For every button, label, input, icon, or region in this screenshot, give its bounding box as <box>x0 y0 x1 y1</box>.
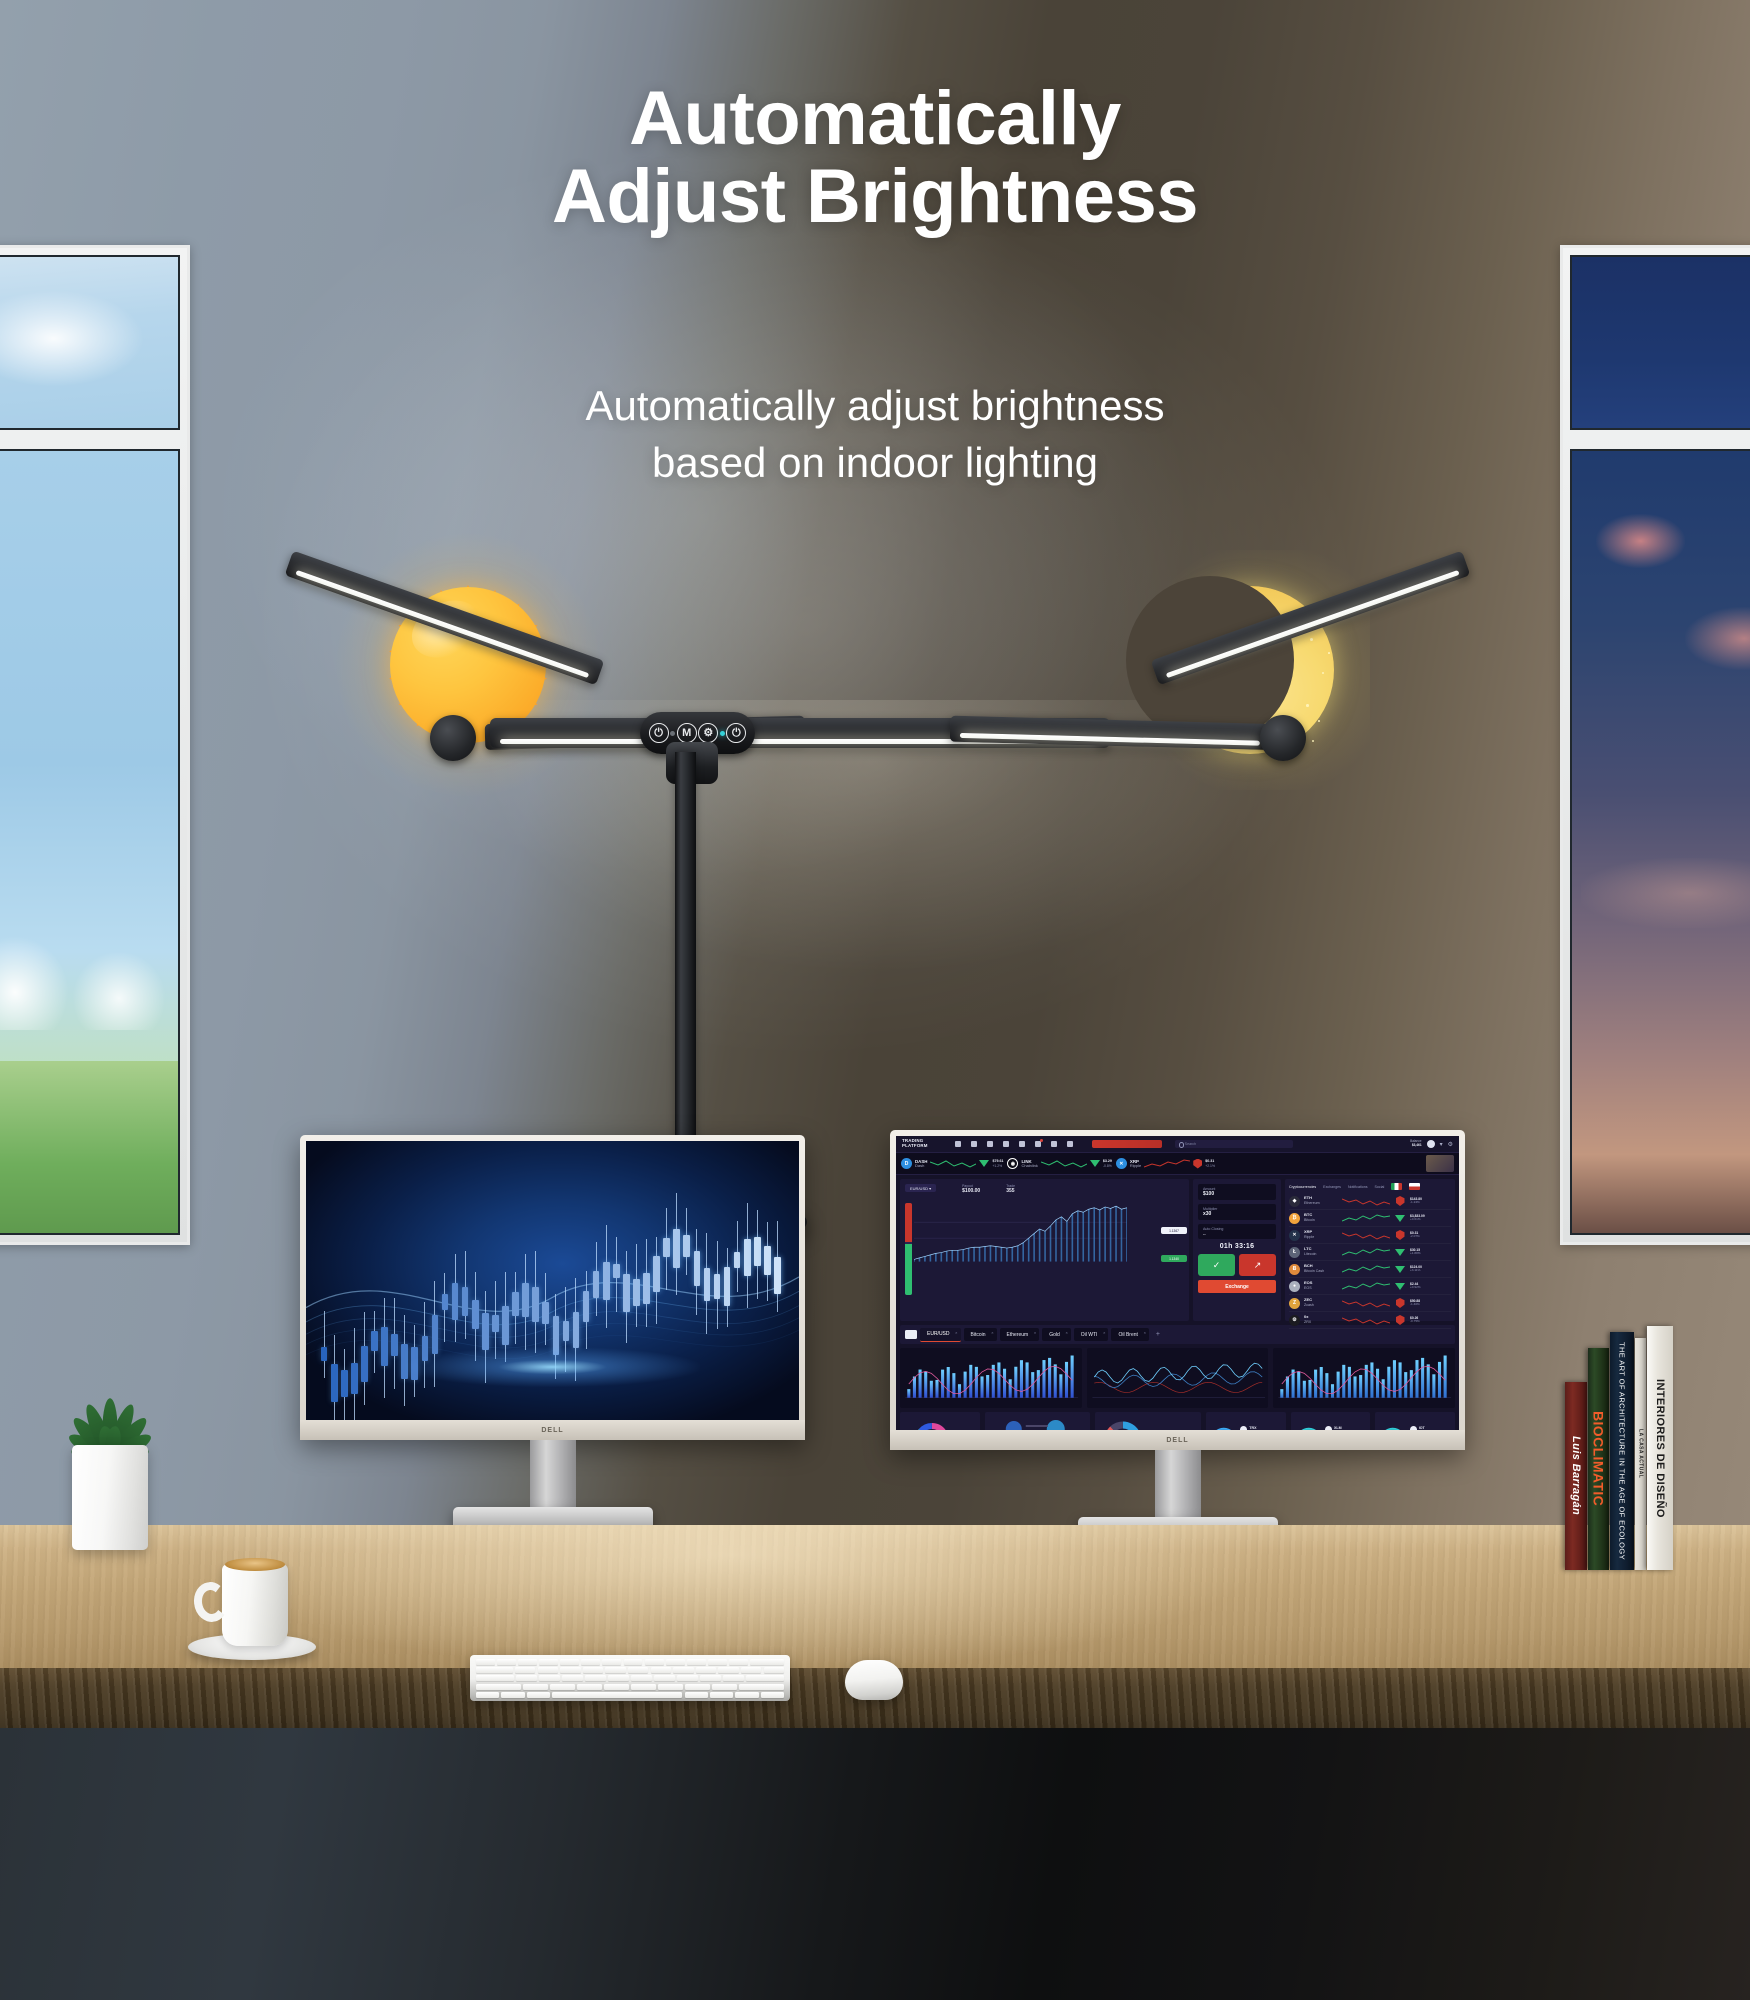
key[interactable] <box>562 1675 583 1681</box>
coin-icon: Z <box>1289 1298 1300 1309</box>
amount-field[interactable]: Amount $100 <box>1198 1184 1276 1200</box>
key[interactable] <box>677 1675 698 1681</box>
tab-label: Oil WTI <box>1081 1332 1098 1338</box>
key[interactable] <box>700 1675 721 1681</box>
candle-body <box>704 1268 711 1301</box>
chart-icon[interactable] <box>987 1141 993 1147</box>
key[interactable] <box>515 1667 535 1673</box>
tab-label: Oil Brent <box>1118 1332 1137 1338</box>
key[interactable] <box>539 1675 560 1681</box>
window-pane-bottom <box>1570 449 1750 1235</box>
ticker-item[interactable]: DDASHDash$79.61+1.2% <box>901 1158 1003 1169</box>
countdown-timer: 01h 33:16 <box>1198 1243 1276 1250</box>
panel-bar-line-combo[interactable] <box>900 1348 1082 1408</box>
candlestick <box>381 1141 388 1420</box>
sparkline <box>1342 1247 1390 1258</box>
lock-icon[interactable] <box>1067 1141 1073 1147</box>
key[interactable] <box>708 1659 727 1665</box>
tab-label: Gold <box>1049 1332 1060 1338</box>
key[interactable] <box>497 1659 516 1665</box>
candle-body <box>391 1334 398 1356</box>
add-tab-button[interactable]: + <box>1152 1331 1164 1338</box>
candle-body <box>673 1229 680 1268</box>
candle-body <box>452 1283 459 1320</box>
candlestick <box>734 1141 741 1420</box>
keyboard-row[interactable] <box>476 1659 784 1665</box>
candle-body <box>714 1274 721 1299</box>
candle-body <box>472 1300 479 1329</box>
key[interactable] <box>685 1692 708 1698</box>
key[interactable] <box>746 1675 784 1681</box>
tab-gold[interactable]: Gold× <box>1042 1328 1071 1341</box>
sparkline <box>1342 1196 1390 1207</box>
chart-trade-stat: Trade 355 <box>1006 1184 1015 1195</box>
chevron-down-icon[interactable]: ▾ <box>1440 1141 1443 1148</box>
key[interactable] <box>608 1675 629 1681</box>
key[interactable] <box>666 1659 685 1665</box>
led-indicator-1 <box>670 731 675 736</box>
crypto-values: $143.80-1.24% <box>1410 1197 1422 1205</box>
crypto-symbol: ZECZcash <box>1304 1298 1338 1307</box>
candle-body <box>663 1238 670 1257</box>
key[interactable] <box>602 1659 621 1665</box>
crypto-row[interactable]: ◆ETHEthereum$143.80-1.24% <box>1289 1193 1451 1210</box>
put-button[interactable]: ↗ <box>1239 1254 1276 1276</box>
monitor-stand-neck <box>1155 1450 1201 1520</box>
coin-icon: ₿ <box>1289 1213 1300 1224</box>
coin-icon: ✕ <box>1289 1230 1300 1241</box>
candlestick <box>391 1141 398 1420</box>
trade-buttons[interactable]: ✓ ↗ <box>1198 1254 1276 1276</box>
trend-down-icon <box>1395 1249 1405 1256</box>
coffee-liquid <box>225 1558 285 1571</box>
crypto-row[interactable]: ✕XRPRipple$0.31-2.07% <box>1289 1227 1451 1244</box>
key[interactable] <box>718 1667 738 1673</box>
autoclose-field[interactable]: Auto Closing -- <box>1198 1224 1276 1239</box>
key[interactable] <box>645 1659 664 1665</box>
candlestick <box>754 1141 761 1420</box>
candle-body <box>381 1327 388 1366</box>
list-icon[interactable] <box>971 1141 977 1147</box>
key[interactable] <box>604 1684 629 1690</box>
sparkline <box>1342 1298 1390 1309</box>
exchange-button[interactable]: Exchange <box>1198 1280 1276 1293</box>
chart-pair-selector[interactable]: EUR/USD ▾ <box>905 1184 936 1192</box>
crypto-values: $50.88-1.40% <box>1410 1299 1420 1307</box>
key[interactable] <box>710 1692 733 1698</box>
flag-icon-poland[interactable] <box>1409 1183 1420 1190</box>
crypto-name: Bitcoin <box>1304 1218 1338 1222</box>
coin-icon: ● <box>1289 1281 1300 1292</box>
key[interactable] <box>750 1659 784 1665</box>
multiplier-field[interactable]: Multiplier x30 <box>1198 1204 1276 1220</box>
key[interactable] <box>761 1692 784 1698</box>
key[interactable] <box>723 1675 744 1681</box>
candlestick <box>704 1141 711 1420</box>
tab-oil-wti[interactable]: Oil WTI× <box>1074 1328 1109 1341</box>
trend-indicator <box>1394 1249 1406 1256</box>
key[interactable] <box>631 1684 656 1690</box>
crypto-name: Zcash <box>1304 1303 1338 1307</box>
key[interactable] <box>476 1692 499 1698</box>
promo-thumbnail[interactable] <box>1426 1155 1454 1172</box>
card-donut-legend[interactable]: 1,048 BitcoinEthereumRippleLitecoin <box>1095 1412 1201 1430</box>
monitor-left-screen[interactable] <box>306 1141 799 1420</box>
lamp-hinge-right[interactable] <box>1260 715 1306 761</box>
monitor-left[interactable]: DELL <box>300 1135 805 1440</box>
keyboard[interactable] <box>470 1655 790 1701</box>
crypto-symbol: BCHBitcoin Cash <box>1304 1264 1338 1273</box>
candle-body <box>593 1271 600 1298</box>
key[interactable] <box>539 1659 558 1665</box>
key[interactable] <box>583 1667 603 1673</box>
card-iota[interactable]: 1,051 IOT IOTA <box>1375 1412 1455 1430</box>
cloud <box>72 951 166 1029</box>
mode-button[interactable]: M <box>677 723 697 743</box>
moon-sparkle <box>1306 704 1309 707</box>
key[interactable] <box>585 1675 606 1681</box>
list-tab-cryptocurrencies[interactable]: Cryptocurrencies <box>1289 1185 1316 1189</box>
coffee-cup[interactable] <box>200 1555 304 1660</box>
trend-indicator <box>1394 1283 1406 1290</box>
crypto-row[interactable]: ŁLTCLitecoin$30.15+1.88% <box>1289 1244 1451 1261</box>
crypto-symbol: BTCBitcoin <box>1304 1213 1338 1222</box>
key[interactable] <box>516 1675 537 1681</box>
candlestick <box>321 1141 328 1420</box>
tab-eur-usd[interactable]: EUR/USD× <box>920 1328 961 1342</box>
tabs-host[interactable]: EUR/USD×Bitcoin×Ethereum×Gold×Oil WTI×Oi… <box>920 1328 1149 1342</box>
key[interactable] <box>735 1692 758 1698</box>
key[interactable] <box>476 1675 514 1681</box>
crypto-name: Bitcoin Cash <box>1304 1269 1338 1273</box>
menu-icon[interactable] <box>905 1330 917 1339</box>
candlestick <box>774 1141 781 1420</box>
key[interactable] <box>538 1667 558 1673</box>
candle-body <box>583 1291 590 1322</box>
key[interactable] <box>605 1667 625 1673</box>
list-tab-row[interactable]: CryptocurrenciesExchangesNotificationsSo… <box>1289 1183 1451 1190</box>
potted-succulent <box>60 1382 160 1550</box>
search-nav-icon[interactable] <box>1019 1141 1025 1147</box>
keyboard-row[interactable] <box>476 1667 784 1673</box>
candle-body <box>502 1306 509 1345</box>
keyboard-row[interactable] <box>476 1675 784 1681</box>
key[interactable] <box>654 1675 675 1681</box>
dashboard-header[interactable]: TRADING PLATFORM Search <box>896 1136 1459 1153</box>
trend-up-icon <box>1396 1315 1405 1325</box>
logo-line-2: PLATFORM <box>902 1143 928 1148</box>
candlestick <box>351 1141 358 1420</box>
key[interactable] <box>581 1659 600 1665</box>
key[interactable] <box>476 1659 495 1665</box>
candlestick <box>371 1141 378 1420</box>
key[interactable] <box>476 1684 521 1690</box>
monitor-right[interactable]: TRADING PLATFORM Search <box>890 1130 1465 1450</box>
tab-oil-brent[interactable]: Oil Brent× <box>1111 1328 1148 1341</box>
candle-body <box>633 1279 640 1306</box>
candle-body <box>643 1273 650 1304</box>
candle-body <box>694 1251 701 1286</box>
tab-ethereum[interactable]: Ethereum× <box>1000 1328 1040 1341</box>
trend-up-icon <box>1193 1159 1202 1169</box>
trend-up-icon <box>1396 1230 1405 1240</box>
key[interactable] <box>658 1684 683 1690</box>
candle-body <box>563 1321 570 1340</box>
candle-body <box>603 1262 610 1300</box>
monitor-brand-label: DELL <box>890 1430 1465 1450</box>
under-desk-shadow <box>0 1728 1750 2000</box>
header-nav-icons[interactable] <box>955 1141 1073 1147</box>
candle-body <box>653 1256 660 1292</box>
headline-line-2: Adjust Brightness <box>0 158 1750 236</box>
sunset-cloud <box>1581 858 1750 928</box>
search-input[interactable]: Search <box>1175 1140 1293 1148</box>
key[interactable] <box>764 1667 784 1673</box>
sparkline <box>1342 1315 1390 1326</box>
crypto-values: $124.00+3.11% <box>1410 1265 1422 1273</box>
trend-indicator <box>1394 1230 1406 1240</box>
ticker-bar[interactable]: DDASHDash$79.61+1.2%◉LINKChainlink$3.29-… <box>896 1153 1459 1175</box>
crypto-symbol: LTCLitecoin <box>1304 1247 1338 1256</box>
page-title: Automatically Adjust Brightness <box>0 80 1750 235</box>
key[interactable] <box>624 1659 643 1665</box>
led-indicator-2 <box>720 731 725 736</box>
settings-button[interactable]: ⚙ <box>698 723 718 743</box>
sunset-cloud <box>1596 514 1686 569</box>
candle-body <box>573 1312 580 1348</box>
tab-label: EUR/USD <box>927 1331 950 1337</box>
window-pane-bottom <box>0 449 180 1235</box>
key[interactable] <box>628 1667 648 1673</box>
page-subtitle: Automatically adjust brightness based on… <box>0 378 1750 491</box>
analytics-panels <box>900 1348 1455 1408</box>
current-price-tag: 1.1367 <box>1161 1227 1187 1234</box>
card-bubble-stats[interactable] <box>985 1412 1091 1430</box>
chart-header: EUR/USD ▾ Payout $100.00 Trade 355 <box>905 1184 1184 1195</box>
key[interactable] <box>685 1684 710 1690</box>
payout-label: Payout <box>962 1184 973 1188</box>
main-chart-panel[interactable]: EUR/USD ▾ Payout $100.00 Trade 355 <box>900 1179 1189 1321</box>
payout-value: $100.00 <box>962 1188 980 1195</box>
crypto-name: EOS <box>1304 1286 1338 1290</box>
candle-body <box>532 1287 539 1322</box>
close-icon[interactable]: × <box>991 1330 993 1335</box>
candle-body <box>683 1235 690 1257</box>
book-stack: Luis Barragán BIOCLIMATIC THE ART OF ARC… <box>1565 1320 1695 1570</box>
trend-up-icon <box>1396 1196 1405 1206</box>
coin-icon: Ƀ <box>1289 1264 1300 1275</box>
balance-value: $3,461 <box>1412 1143 1422 1147</box>
close-icon[interactable]: × <box>1103 1330 1105 1335</box>
crypto-rows[interactable]: ◆ETHEthereum$143.80-1.24%₿BTCBitcoin$3,8… <box>1289 1193 1451 1329</box>
candle-body <box>361 1346 368 1382</box>
ticker-symbol: XRPRipple <box>1130 1159 1141 1169</box>
avatar[interactable] <box>1427 1140 1435 1148</box>
keyboard-row[interactable] <box>476 1684 784 1690</box>
trend-down-icon <box>1090 1160 1100 1167</box>
keyboard-row[interactable] <box>476 1692 784 1698</box>
crypto-row[interactable]: ZZECZcash$50.88-1.40% <box>1289 1295 1451 1312</box>
mouse[interactable] <box>845 1660 903 1700</box>
candle-body <box>442 1294 449 1311</box>
close-icon[interactable]: × <box>955 1330 957 1335</box>
bell-icon[interactable] <box>955 1141 961 1147</box>
order-panel[interactable]: Amount $100 Multiplier x30 Auto Closing … <box>1193 1179 1281 1321</box>
key[interactable] <box>560 1667 580 1673</box>
crypto-row[interactable]: ●EOSEOS$2.44+0.92% <box>1289 1278 1451 1295</box>
key[interactable] <box>560 1659 579 1665</box>
tab-label: Ethereum <box>1007 1332 1029 1338</box>
moon-sparkle <box>1318 720 1320 722</box>
crypto-row[interactable]: ₿BTCBitcoin$3,833.09+0.61% <box>1289 1210 1451 1227</box>
sparkline <box>1342 1230 1390 1241</box>
dashboard-main: EUR/USD ▾ Payout $100.00 Trade 355 <box>896 1175 1459 1325</box>
candle-body <box>774 1257 781 1294</box>
key[interactable] <box>651 1667 671 1673</box>
ticker-name: Ripple <box>1130 1164 1141 1169</box>
key[interactable] <box>696 1667 716 1673</box>
key[interactable] <box>687 1659 706 1665</box>
flag-icon-italy[interactable] <box>1391 1183 1402 1190</box>
vbar-buy <box>905 1244 912 1295</box>
moon-sparkle <box>1322 672 1324 674</box>
candle-body <box>331 1364 338 1402</box>
spacebar[interactable] <box>552 1692 682 1698</box>
key[interactable] <box>729 1659 748 1665</box>
cup-body <box>222 1564 288 1646</box>
sparkline <box>1144 1158 1190 1169</box>
trend-down-icon <box>1395 1215 1405 1222</box>
panel-bar-trend[interactable] <box>1273 1348 1455 1408</box>
list-tab-notifications[interactable]: Notifications <box>1348 1185 1368 1189</box>
trend-down-icon <box>1395 1266 1405 1273</box>
header-account-area[interactable]: Balance $3,461 ▾ ⚙ <box>1410 1140 1453 1148</box>
chart-payout-stat: Payout $100.00 <box>962 1184 980 1195</box>
panel-multi-line[interactable] <box>1087 1348 1269 1408</box>
ticker-values: $79.61+1.2% <box>992 1159 1003 1168</box>
key[interactable] <box>739 1684 784 1690</box>
key[interactable] <box>673 1667 693 1673</box>
candle-body <box>613 1264 620 1278</box>
trade-label: Trade <box>1006 1184 1015 1188</box>
crypto-values: $0.31-2.07% <box>1410 1231 1420 1239</box>
tab-bitcoin[interactable]: Bitcoin× <box>964 1328 997 1341</box>
card-trx[interactable]: 1,049 TRX Tron <box>1206 1412 1286 1430</box>
book-spine: THE ART OF ARCHITECTURE IN THE AGE OF EC… <box>1610 1332 1634 1570</box>
volatility-bar <box>905 1203 912 1295</box>
close-icon[interactable]: × <box>1065 1330 1067 1335</box>
coin-icon: ✕ <box>1116 1158 1127 1169</box>
key[interactable] <box>527 1692 550 1698</box>
monitor-brand-label: DELL <box>300 1420 805 1440</box>
multiplier-value: x30 <box>1203 1211 1271 1217</box>
ticker-symbol: LINKChainlink <box>1021 1159 1037 1169</box>
ticker-item[interactable]: ◉LINKChainlink$3.29-0.8% <box>1007 1158 1111 1169</box>
trend-indicator <box>1394 1315 1406 1325</box>
plant-pot <box>72 1445 148 1550</box>
key[interactable] <box>631 1675 652 1681</box>
candle-body <box>754 1237 761 1266</box>
monitor-stand-neck <box>530 1440 576 1510</box>
key[interactable] <box>550 1684 575 1690</box>
key[interactable] <box>518 1659 537 1665</box>
ticker-symbol: DASHDash <box>915 1159 927 1169</box>
sparkline <box>1342 1213 1390 1224</box>
list-tab-exchanges[interactable]: Exchanges <box>1323 1185 1341 1189</box>
crypto-symbol: ETHEthereum <box>1304 1196 1338 1205</box>
close-icon[interactable]: × <box>1034 1330 1036 1335</box>
candle-body <box>492 1315 499 1332</box>
key[interactable] <box>741 1667 761 1673</box>
candle-body <box>623 1274 630 1312</box>
lamp-hinge-left[interactable] <box>430 715 476 761</box>
monitor-right-screen[interactable]: TRADING PLATFORM Search <box>896 1136 1459 1430</box>
crypto-row[interactable]: ɃBCHBitcoin Cash$124.00+3.11% <box>1289 1261 1451 1278</box>
alerts-icon[interactable] <box>1035 1141 1041 1147</box>
close-icon[interactable]: × <box>1144 1330 1146 1335</box>
amount-value: $100 <box>1203 1191 1271 1197</box>
crypto-list-panel[interactable]: CryptocurrenciesExchangesNotificationsSo… <box>1285 1179 1455 1321</box>
star-icon[interactable] <box>1003 1141 1009 1147</box>
power-secondary-button[interactable]: ⏻ <box>726 723 746 743</box>
crypto-name: Ripple <box>1304 1235 1338 1239</box>
sparkline <box>1041 1158 1087 1169</box>
key[interactable] <box>712 1684 737 1690</box>
crypto-name: ZRX <box>1304 1320 1338 1324</box>
candle-body <box>512 1292 519 1316</box>
crypto-name: Litecoin <box>1304 1252 1338 1256</box>
key[interactable] <box>501 1692 524 1698</box>
sparkline <box>1342 1264 1390 1275</box>
card-xlm[interactable]: 1,050 XLM Stellar <box>1291 1412 1371 1430</box>
moon-sparkle <box>1310 638 1313 641</box>
list-tab-social[interactable]: Social <box>1375 1185 1385 1189</box>
subheadline-line-2: based on indoor lighting <box>0 435 1750 492</box>
sparkline <box>930 1158 976 1169</box>
wallet-icon[interactable] <box>1051 1141 1057 1147</box>
sunset-cloud <box>1685 607 1750 670</box>
crypto-values: $3,833.09+0.61% <box>1410 1214 1425 1222</box>
coin-icon: D <box>901 1158 912 1169</box>
crypto-values: $30.15+1.88% <box>1410 1248 1421 1256</box>
cloud <box>0 936 69 1030</box>
tab-label: Bitcoin <box>971 1332 986 1338</box>
key[interactable] <box>577 1684 602 1690</box>
subheadline-line-1: Automatically adjust brightness <box>0 378 1750 435</box>
candle-body <box>462 1287 469 1316</box>
alert-banner[interactable] <box>1092 1140 1162 1148</box>
trend-up-icon <box>1396 1298 1405 1308</box>
crypto-symbol: EOSEOS <box>1304 1281 1338 1290</box>
card-donut-distribution[interactable]: 14% <box>900 1412 980 1430</box>
crypto-row[interactable]: ⚙0xZRX$0.26-0.75% <box>1289 1312 1451 1329</box>
candlestick <box>331 1141 338 1420</box>
trading-dashboard[interactable]: TRADING PLATFORM Search <box>896 1136 1459 1430</box>
power-button[interactable]: ⏻ <box>649 723 669 743</box>
headline-line-1: Automatically <box>629 76 1121 161</box>
key[interactable] <box>476 1667 513 1673</box>
candle-body <box>764 1246 771 1275</box>
call-button[interactable]: ✓ <box>1198 1254 1235 1276</box>
gear-icon[interactable]: ⚙ <box>1448 1141 1453 1148</box>
ticker-item[interactable]: ✕XRPRipple$0.31+2.1% <box>1116 1158 1215 1169</box>
key[interactable] <box>523 1684 548 1690</box>
candle-body <box>371 1331 378 1350</box>
coin-icon: ⚙ <box>1289 1315 1300 1326</box>
candlestick <box>361 1141 368 1420</box>
candle-body <box>542 1302 549 1324</box>
ticker-values: $3.29-0.8% <box>1103 1159 1112 1168</box>
